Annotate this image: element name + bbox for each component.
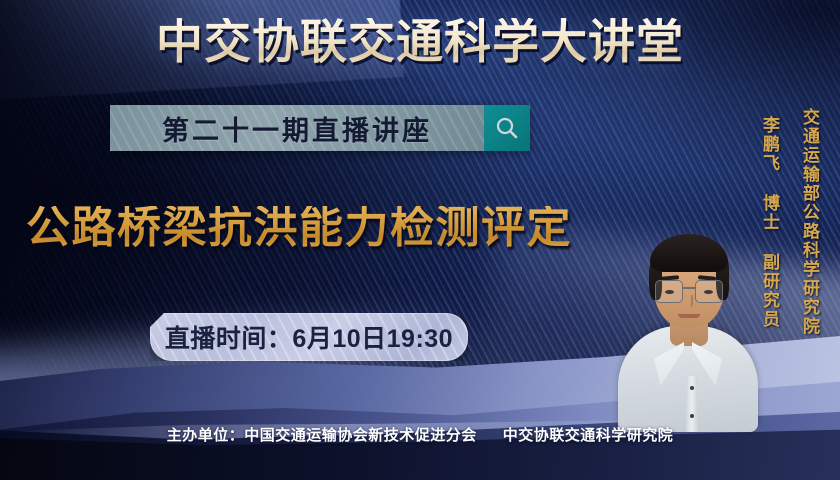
glasses-lens-left [655,280,683,303]
main-title: 中交协联交通科学大讲堂 [0,18,840,65]
speaker-organization: 交通运输部公路科学研究院 [797,108,822,336]
portrait-nose [686,295,693,308]
poster-canvas: 中交协联交通科学大讲堂 第二十一期直播讲座 公路桥梁抗洪能力检测评定 直播时间：… [0,0,840,480]
speaker-name-title: 李鹏飞 博士 副研究员 [757,116,782,329]
live-time-text: 直播时间：6月10日19:30 [165,319,453,355]
series-bar: 第二十一期直播讲座 [110,105,530,151]
portrait-mouth [678,314,700,318]
glasses-bridge [683,287,695,289]
search-icon[interactable] [484,105,530,151]
lecture-headline: 公路桥梁抗洪能力检测评定 [26,206,572,250]
glasses-lens-right [695,280,723,303]
live-time-pill: 直播时间：6月10日19:30 [150,313,468,361]
footer-organizers: 主办单位：中国交通运输协会新技术促进分会中交协联交通科学研究院 [0,424,840,445]
footer-org-2: 中交协联交通科学研究院 [503,427,674,444]
portrait-hair [650,234,728,272]
footer-label: 主办单位： [167,427,245,444]
portrait-shirt-button [690,414,694,418]
series-label: 第二十一期直播讲座 [162,109,432,148]
portrait-shirt-button [690,386,694,390]
speaker-portrait [624,192,752,432]
footer-org-1: 中国交通运输协会新技术促进分会 [244,427,477,444]
series-bar-body: 第二十一期直播讲座 [110,105,484,151]
